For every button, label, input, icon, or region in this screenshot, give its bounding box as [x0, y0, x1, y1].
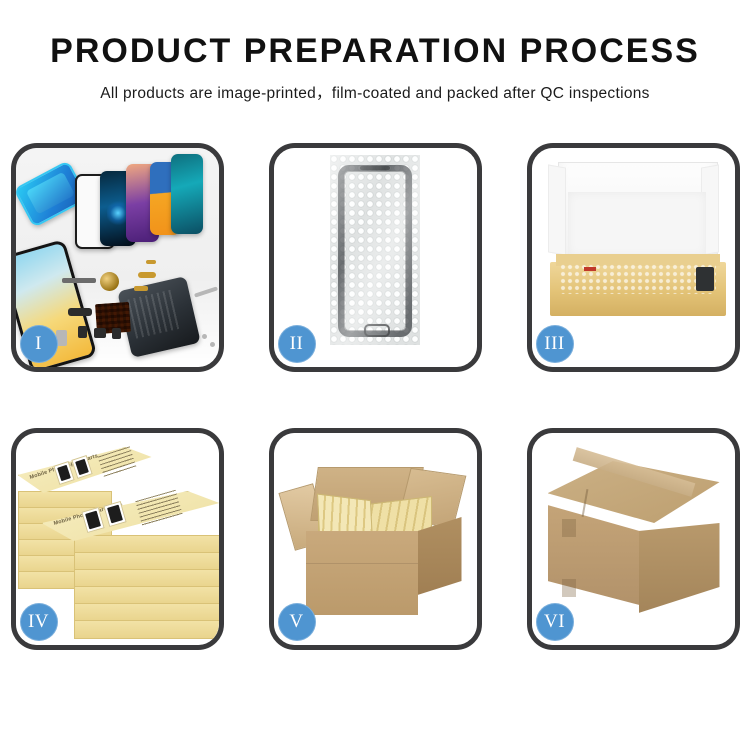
step-badge-3: III	[536, 325, 574, 363]
box-spec-lines	[97, 446, 136, 477]
page-subtitle: All products are image-printed，film-coat…	[0, 81, 750, 103]
step-panel-5[interactable]: V	[269, 428, 482, 650]
process-row-2: Mobile Phone Spare Parts Mobile Phone Sp…	[0, 428, 750, 650]
step-panel-3[interactable]: III	[527, 143, 740, 372]
box-lid-left-flap-icon	[548, 164, 566, 255]
camera-module-part-icon	[78, 326, 87, 338]
process-row-1: I II	[0, 143, 750, 372]
packed-screen-icon	[560, 264, 716, 294]
gold-bracket-part-icon	[134, 286, 148, 291]
screen-earpiece-icon	[360, 166, 390, 170]
speaker-coil-part-icon	[100, 272, 119, 291]
process-steps-grid: I II	[0, 143, 750, 650]
step-panel-6[interactable]: VI	[527, 428, 740, 650]
step-badge-4: IV	[20, 603, 58, 641]
bubble-wrap-icon	[330, 155, 420, 345]
step-badge-2: II	[278, 325, 316, 363]
gold-connector-part-icon	[138, 272, 156, 278]
earpiece-part-icon	[94, 328, 106, 338]
carton-front-face-icon	[306, 531, 418, 615]
step-panel-2[interactable]: II	[269, 143, 482, 372]
flex-cable-part-icon	[62, 278, 96, 283]
step-badge-6: VI	[536, 603, 574, 641]
step-panel-4[interactable]: Mobile Phone Spare Parts Mobile Phone Sp…	[11, 428, 224, 650]
page-header: PRODUCT PREPARATION PROCESS All products…	[0, 0, 750, 103]
wrapped-screen-outline-icon	[338, 165, 412, 337]
foam-insert-icon	[568, 192, 706, 256]
step-panel-1[interactable]: I	[11, 143, 224, 372]
screen-home-button-icon	[364, 324, 390, 337]
page-title: PRODUCT PREPARATION PROCESS	[0, 34, 750, 68]
antenna-part-icon	[146, 260, 156, 264]
carton-fold-line	[306, 563, 418, 564]
battery-connector-part-icon	[112, 328, 121, 339]
screen-connector-end-icon	[696, 267, 714, 291]
step-badge-5: V	[278, 603, 316, 641]
carton-flap-tab-icon	[562, 579, 576, 597]
box-spec-lines	[135, 490, 183, 527]
screw-part-icon	[210, 342, 215, 347]
red-label-icon	[584, 267, 596, 271]
step-badge-1: I	[20, 325, 58, 363]
stacked-box-side	[74, 620, 219, 639]
vibrator-part-icon	[68, 308, 92, 316]
sealed-carton-side-face-icon	[639, 523, 720, 613]
carton-flap-tab-icon	[562, 519, 576, 537]
screw-part-icon	[202, 334, 207, 339]
tweezers-tool-icon	[193, 286, 217, 297]
phone-teal-icon	[171, 154, 203, 234]
